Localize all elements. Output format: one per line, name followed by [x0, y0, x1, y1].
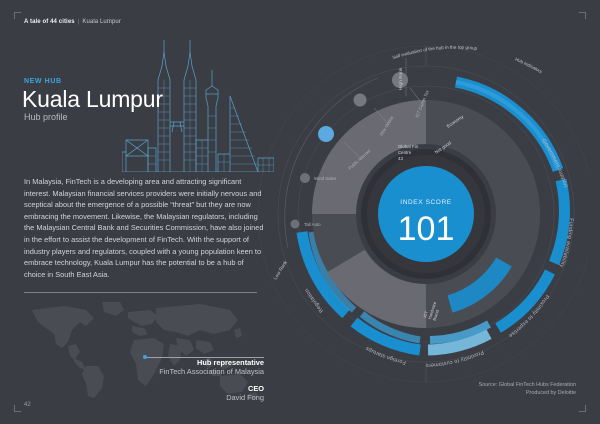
eyebrow-new-hub: NEW HUB — [24, 78, 62, 85]
body-paragraph: In Malaysia, FinTech is a developing are… — [24, 176, 264, 280]
annotation-global-fin-centre: Global Fin — [398, 144, 419, 149]
credit-role-0: Hub representative — [84, 358, 264, 367]
credit-name-0: FinTech Association of Malaysia — [84, 367, 264, 376]
source-line-2: Produced by Deloitte — [479, 389, 576, 397]
page-root: A tale of 44 cities|Kuala Lumpur — [0, 0, 600, 424]
page-number: 42 — [24, 402, 31, 408]
svg-text:Centre: Centre — [398, 150, 412, 155]
category-label-government-support: Government support — [540, 138, 568, 189]
satellite-dot-2 — [318, 126, 334, 142]
page-title: Kuala Lumpur — [22, 86, 163, 113]
satellite-dot-3 — [354, 94, 367, 107]
annotation-low-rank: Low Rank — [273, 259, 290, 281]
left-column: NEW HUB Kuala Lumpur Hub profile In Mala… — [24, 0, 276, 424]
satellite-dot-1 — [300, 173, 310, 183]
crop-mark-top-left — [14, 12, 21, 19]
svg-text:43: 43 — [398, 156, 403, 161]
section-divider — [24, 292, 257, 293]
center-label: INDEX SCORE — [400, 199, 451, 206]
crop-mark-bottom-left — [14, 405, 21, 412]
satellite-label-0: Tall Auto — [304, 222, 321, 227]
annotation-hub-indicators: Hub indicators — [514, 57, 543, 75]
satellite-label-1: Wind Sales — [314, 176, 337, 181]
credit-name-1: David Fong — [84, 393, 264, 402]
radial-index-chart: INDEX SCORE 101 — [258, 18, 588, 388]
source-line-1: Source: Global FinTech Hubs Federation — [479, 381, 576, 389]
annotation-self-evaluation: Self evaluation of the hub in the top gr… — [392, 45, 478, 61]
credits-block: Hub representative FinTech Association o… — [84, 358, 264, 410]
crop-mark-bottom-right — [579, 405, 586, 412]
source-credit: Source: Global FinTech Hubs Federation P… — [479, 381, 576, 397]
page-subtitle: Hub profile — [24, 112, 68, 122]
center-value: 101 — [398, 210, 455, 248]
annotation-high-rank: High Rank — [398, 67, 404, 90]
satellite-dot-0 — [291, 220, 300, 229]
credit-role-1: CEO — [84, 384, 264, 393]
